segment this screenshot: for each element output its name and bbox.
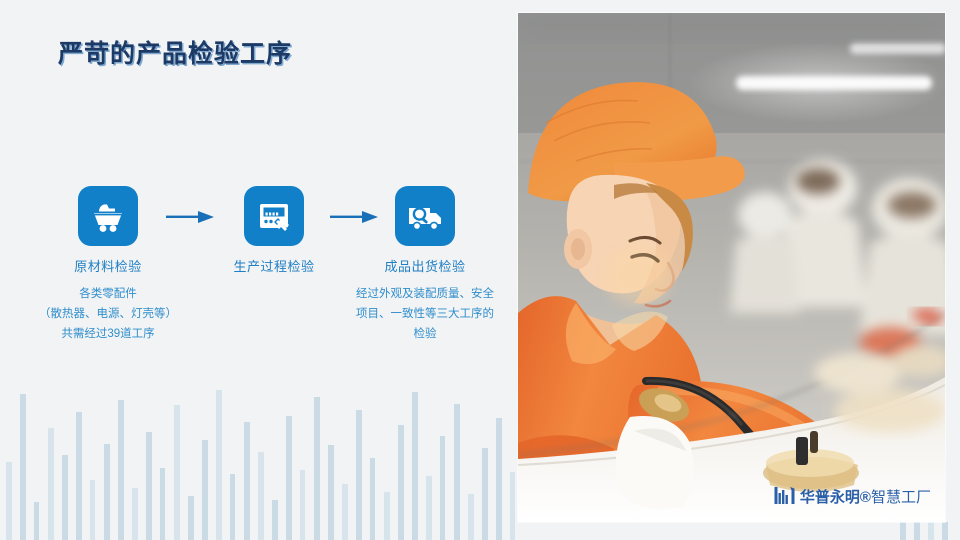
decorative-bar	[398, 425, 404, 540]
decorative-bar	[174, 405, 180, 540]
desc-line: 检验	[330, 324, 520, 344]
decorative-bar	[454, 404, 460, 540]
decorative-bar	[202, 440, 208, 540]
decorative-bar	[426, 476, 432, 540]
decorative-bar	[412, 392, 418, 540]
desc-line: 经过外观及装配质量、安全	[330, 284, 520, 304]
decorative-bar	[34, 502, 39, 540]
decorative-bar	[118, 400, 124, 540]
decorative-bar	[942, 522, 948, 540]
decorative-bar	[356, 410, 362, 540]
mine-cart-icon	[78, 186, 138, 246]
slide-canvas: 严苛的产品检验工序 原材料检验 各类零配件 （散热器、电源、灯壳等） 共需经过3…	[0, 0, 960, 540]
decorative-bar	[342, 484, 348, 540]
decorative-bar	[76, 412, 82, 540]
decorative-bar	[384, 492, 390, 540]
decorative-bar	[160, 468, 165, 540]
process-flow: 原材料检验 各类零配件 （散热器、电源、灯壳等） 共需经过39道工序	[0, 186, 517, 386]
decorative-bar	[48, 428, 54, 540]
decorative-bar	[328, 445, 334, 540]
desc-line: （散热器、电源、灯壳等）	[8, 304, 208, 324]
truck-inspection-icon	[395, 186, 455, 246]
decorative-bar	[244, 422, 250, 540]
desc-line: 各类零配件	[8, 284, 208, 304]
decorative-bar	[496, 418, 502, 540]
arrow-right-icon	[330, 210, 380, 224]
decorative-bar	[314, 397, 320, 540]
brand-logo: 华普永明®智慧工厂	[774, 486, 931, 506]
decorative-bar	[146, 432, 152, 540]
decorative-bar	[286, 416, 292, 540]
decorative-bar	[62, 455, 68, 540]
decorative-bar	[104, 444, 110, 540]
decorative-bar	[370, 458, 375, 540]
process-step-production[interactable]: 生产过程检验	[222, 186, 326, 275]
desc-line: 项目、一致性等三大工序的	[330, 304, 520, 324]
huapu-logo-mark	[774, 486, 796, 506]
logo-registered-mark: ®	[860, 489, 871, 506]
decorative-bar	[132, 488, 138, 540]
process-step-label: 原材料检验	[8, 256, 208, 275]
process-step-label: 生产过程检验	[222, 256, 326, 275]
logo-sub-text: 智慧工厂	[871, 489, 931, 506]
logo-brand-text: 华普永明®智慧工厂	[800, 490, 931, 506]
process-step-description: 各类零配件 （散热器、电源、灯壳等） 共需经过39道工序	[8, 284, 208, 344]
decorative-bar	[216, 390, 222, 540]
process-step-label: 成品出货检验	[330, 256, 520, 275]
decorative-bar	[6, 462, 12, 540]
desc-line: 共需经过39道工序	[8, 324, 208, 344]
decorative-bar	[440, 436, 445, 540]
decorative-bar	[20, 394, 26, 540]
decorative-bar	[300, 470, 305, 540]
decorative-bar	[230, 474, 235, 540]
decorative-bar	[468, 494, 474, 540]
process-step-description: 经过外观及装配质量、安全 项目、一致性等三大工序的 检验	[330, 284, 520, 344]
machine-tools-icon	[244, 186, 304, 246]
decorative-bar	[90, 480, 95, 540]
decorative-bar	[482, 448, 488, 540]
decorative-bar	[272, 500, 278, 540]
arrow-right-icon	[166, 210, 216, 224]
decorative-bar	[188, 496, 194, 540]
page-title: 严苛的产品检验工序	[58, 34, 292, 70]
logo-brand-name: 华普永明	[800, 489, 860, 506]
factory-inspection-photo: 华普永明®智慧工厂	[518, 13, 945, 522]
decorative-bar	[510, 472, 515, 540]
decorative-bar	[258, 452, 264, 540]
